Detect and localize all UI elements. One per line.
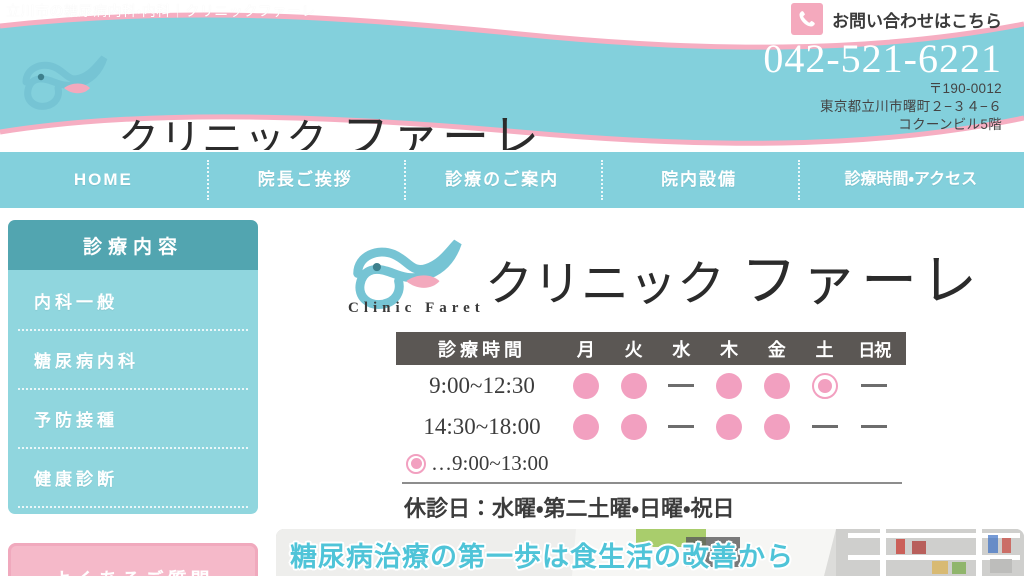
main-navigation: HOME 院長ご挨拶 診療のご案内 院内設備 診療時間・アクセス — [0, 152, 1024, 208]
main-content: Clinic Faret クリニックファーレ 診療時間 月 火 水 木 金 土 … — [268, 214, 1024, 576]
sidebar-faq-label: よくあるご質問 — [8, 543, 258, 576]
hours-header-tue: 火 — [610, 336, 658, 362]
header-contact: お問い合わせはこちら 042-521-6221 〒190-0012 東京都立川市… — [763, 3, 1002, 134]
main-logo-wordmark-main: クリニック — [485, 258, 725, 311]
sidebar-divider — [18, 506, 248, 508]
hours-header-time: 診療時間 — [402, 336, 562, 362]
sidebar: 診療内容 内科一般 糖尿病内科 予防接種 健康診断 — [8, 220, 258, 514]
hours-header-fri: 金 — [753, 336, 801, 362]
hours-cell-afternoon-thu — [705, 414, 753, 440]
hours-divider — [402, 482, 902, 484]
closed-days-text: 休診日：水曜・第二土曜・日曜・祝日 — [404, 491, 906, 523]
nav-item-home[interactable]: HOME — [0, 152, 207, 208]
hours-cell-morning-mon — [562, 373, 610, 399]
phone-handset-icon — [791, 3, 823, 35]
hours-cell-afternoon-sat — [801, 425, 849, 428]
hours-header-sat: 土 — [801, 336, 849, 362]
hours-cell-morning-tue — [610, 373, 658, 399]
closed-mark-icon — [668, 425, 694, 428]
header-logo[interactable]: Clinic Faret クリニックファーレ — [8, 48, 118, 120]
hours-cell-morning-fri — [753, 373, 801, 399]
hours-row-morning: 9:00~12:30 — [396, 365, 906, 406]
hours-cell-morning-wed — [657, 384, 705, 387]
hours-header-mon: 月 — [562, 336, 610, 362]
logo-wordmark-sub: ファーレ — [342, 112, 542, 150]
hours-cell-afternoon-wed — [657, 425, 705, 428]
sidebar-faq-box[interactable]: よくあるご質問 — [8, 543, 258, 576]
hours-cell-morning-sat — [801, 373, 849, 399]
banner-headline: 糖尿病治療の第一歩は食生活の改善から — [290, 535, 794, 574]
bird-wave-logo-icon — [8, 48, 118, 120]
open-mark-icon — [621, 373, 647, 399]
hours-footnote-text: …9:00~13:00 — [431, 451, 549, 476]
hours-table-header: 診療時間 月 火 水 木 金 土 日祝 — [396, 332, 906, 365]
sidebar-item-diabetes[interactable]: 糖尿病内科 — [8, 331, 258, 388]
hours-table: 診療時間 月 火 水 木 金 土 日祝 9:00~12:30 14:30~18:… — [396, 332, 906, 523]
hours-header-wed: 水 — [657, 336, 705, 362]
sidebar-item-health-checkup[interactable]: 健康診断 — [8, 449, 258, 506]
closed-mark-icon — [668, 384, 694, 387]
logo-wordmark: クリニックファーレ — [118, 98, 542, 150]
closed-mark-icon — [861, 425, 887, 428]
logo-wordmark-main: クリニック — [118, 116, 328, 150]
hours-row-afternoon: 14:30~18:00 — [396, 406, 906, 447]
short-hours-mark-icon — [406, 454, 426, 474]
open-mark-icon — [716, 414, 742, 440]
hours-footnote: …9:00~13:00 — [406, 451, 906, 476]
hours-header-sun-holiday: 日祝 — [848, 336, 900, 361]
hours-header-thu: 木 — [705, 336, 753, 362]
hours-cell-afternoon-mon — [562, 414, 610, 440]
sidebar-menu: 内科一般 糖尿病内科 予防接種 健康診断 — [8, 270, 258, 514]
closed-mark-icon — [861, 384, 887, 387]
hours-row-afternoon-time: 14:30~18:00 — [402, 414, 562, 440]
page-title: 立川市の糖尿病内科・内科｜クリニックファーレ — [6, 1, 316, 21]
main-logo-wordmark-sub: ファーレ — [741, 251, 981, 313]
address-line-2: コクーンビル5階 — [763, 116, 1002, 134]
open-mark-icon — [573, 373, 599, 399]
open-mark-icon — [716, 373, 742, 399]
promo-banner[interactable]: 糖尿病治療の第一歩は食生活の改善から — [276, 529, 1024, 576]
hours-cell-morning-sun — [848, 384, 900, 387]
main-logo-caption: Clinic Faret — [348, 300, 485, 317]
main-logo: Clinic Faret クリニックファーレ — [330, 230, 1024, 326]
address-line-1: 東京都立川市曙町２−３４−６ — [763, 98, 1002, 116]
postal-code: 〒190-0012 — [763, 80, 1002, 98]
open-mark-icon — [764, 373, 790, 399]
hours-cell-afternoon-sun — [848, 425, 900, 428]
open-mark-icon — [621, 414, 647, 440]
hours-cell-afternoon-tue — [610, 414, 658, 440]
sidebar-item-general-internal[interactable]: 内科一般 — [8, 272, 258, 329]
sidebar-item-vaccination[interactable]: 予防接種 — [8, 390, 258, 447]
sidebar-heading: 診療内容 — [8, 220, 258, 270]
open-mark-icon — [573, 414, 599, 440]
site-header: 立川市の糖尿病内科・内科｜クリニックファーレ Clinic Faret クリニッ… — [0, 0, 1024, 150]
closed-mark-icon — [812, 425, 838, 428]
phone-number[interactable]: 042-521-6221 — [763, 37, 1002, 80]
main-logo-wordmark: クリニックファーレ — [485, 236, 981, 317]
hours-cell-morning-thu — [705, 373, 753, 399]
contact-label: お問い合わせはこちら — [832, 7, 1002, 32]
nav-item-hours-access[interactable]: 診療時間・アクセス — [798, 152, 1024, 208]
nav-item-services[interactable]: 診療のご案内 — [404, 152, 601, 208]
short-hours-mark-icon — [812, 373, 838, 399]
hours-row-morning-time: 9:00~12:30 — [402, 373, 562, 399]
nav-item-greeting[interactable]: 院長ご挨拶 — [207, 152, 404, 208]
hours-cell-afternoon-fri — [753, 414, 801, 440]
open-mark-icon — [764, 414, 790, 440]
logo-caption: Clinic Faret — [18, 148, 118, 150]
nav-item-facilities[interactable]: 院内設備 — [601, 152, 798, 208]
